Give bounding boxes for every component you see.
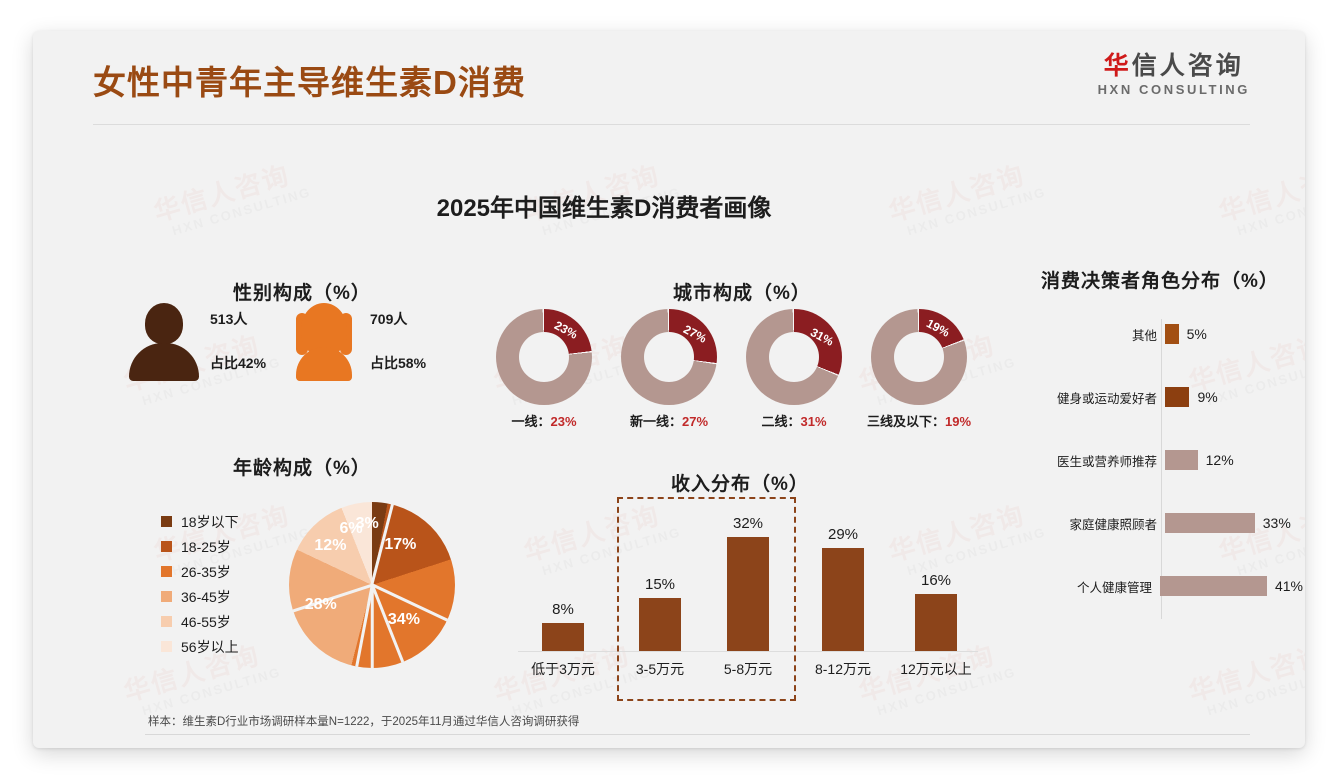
donut-caption: 新一线：27%: [613, 411, 725, 430]
logo-english-text: HXN CONSULTING: [1098, 82, 1250, 97]
footer-divider: [145, 734, 1250, 735]
income-category-label: 12万元以上: [886, 659, 986, 679]
slide-header: 女性中青年主导维生素D消费 华信人咨询 HXN CONSULTING: [33, 31, 1305, 124]
donut-ring: 19%: [871, 309, 967, 405]
age-legend-item: 26-35岁: [161, 559, 239, 584]
donut-caption-value: 23%: [550, 414, 576, 429]
income-category-label: 8-12万元: [793, 659, 893, 679]
female-count: 709人: [370, 309, 426, 329]
income-highlight-box: [617, 497, 796, 701]
income-bar-column: 16%: [891, 572, 981, 651]
role-value: 9%: [1197, 389, 1217, 405]
legend-swatch: [161, 591, 172, 602]
legend-label: 46-55岁: [181, 612, 231, 632]
role-bar-row: 医生或营养师推荐12%: [1033, 445, 1303, 475]
role-bar-row: 其他5%: [1033, 319, 1303, 349]
role-bar-row: 家庭健康照顾者33%: [1033, 508, 1303, 538]
pie-value-label: 17%: [384, 536, 416, 554]
watermark: 华信人咨询HXN CONSULTING: [1184, 630, 1305, 721]
donut-ring: 23%: [496, 309, 592, 405]
legend-swatch: [161, 566, 172, 577]
role-value: 12%: [1206, 452, 1234, 468]
role-bar: [1165, 513, 1255, 533]
legend-swatch: [161, 541, 172, 552]
role-label: 家庭健康照顾者: [1033, 514, 1163, 533]
male-count: 513人: [210, 309, 266, 329]
role-value: 33%: [1263, 515, 1291, 531]
role-bar-row: 健身或运动爱好者9%: [1033, 382, 1303, 412]
page-title: 女性中青年主导维生素D消费: [93, 56, 526, 104]
role-label: 医生或营养师推荐: [1033, 451, 1163, 470]
income-bar: [542, 623, 584, 651]
legend-label: 56岁以上: [181, 637, 239, 657]
income-bar-column: 8%: [518, 601, 608, 651]
age-legend-item: 36-45岁: [161, 584, 239, 609]
donut-hole: [894, 332, 944, 382]
male-person-icon: [128, 303, 200, 381]
age-legend-item: 18-25岁: [161, 534, 239, 559]
donut-hole: [644, 332, 694, 382]
legend-swatch: [161, 641, 172, 652]
legend-label: 26-35岁: [181, 562, 231, 582]
legend-label: 18-25岁: [181, 537, 231, 557]
city-donut-item: 23%一线：23%: [488, 309, 600, 430]
female-stats: 709人 占比58%: [370, 309, 426, 373]
gender-item-female: 709人 占比58%: [288, 303, 360, 381]
donut-caption-label: 一线：: [511, 414, 550, 429]
income-section-title: 收入分布（%）: [671, 469, 809, 496]
donut-caption: 二线：31%: [738, 411, 850, 430]
sample-note: 样本：维生素D行业市场调研样本量N=1222，于2025年11月通过华信人咨询调…: [148, 713, 579, 729]
role-label: 健身或运动爱好者: [1033, 388, 1163, 407]
donut-caption: 三线及以下：19%: [863, 411, 975, 430]
donut-caption-value: 27%: [682, 414, 708, 429]
city-donut-item: 31%二线：31%: [738, 309, 850, 430]
gender-section-title: 性别构成（%）: [233, 278, 371, 305]
age-legend-item: 56岁以上: [161, 634, 239, 659]
role-bar: [1165, 387, 1189, 407]
role-value: 5%: [1187, 326, 1207, 342]
donut-caption-label: 新一线：: [630, 414, 682, 429]
age-section-title: 年龄构成（%）: [233, 453, 371, 480]
donut-hole: [519, 332, 569, 382]
donut-caption-value: 19%: [945, 414, 971, 429]
pie-value-label: 28%: [305, 596, 337, 614]
gender-item-male: 513人 占比42%: [128, 303, 200, 381]
logo-chinese-text: 华信人咨询: [1098, 53, 1250, 79]
role-bar: [1165, 450, 1198, 470]
role-section-title: 消费决策者角色分布（%）: [1041, 266, 1279, 293]
donut-ring: 27%: [621, 309, 717, 405]
role-label: 其他: [1033, 325, 1163, 344]
role-bar: [1165, 324, 1179, 344]
chart-subtitle: 2025年中国维生素D消费者画像: [33, 188, 1305, 223]
legend-swatch: [161, 616, 172, 627]
header-divider: [93, 124, 1250, 125]
pie-value-label: 12%: [314, 537, 346, 555]
legend-label: 36-45岁: [181, 587, 231, 607]
income-bar-value: 8%: [518, 601, 608, 618]
role-label: 个人健康管理: [1033, 577, 1158, 596]
donut-caption-value: 31%: [800, 414, 826, 429]
age-pie-chart: 3%17%34%28%12%6%: [289, 502, 455, 668]
role-bar-row: 个人健康管理41%: [1033, 571, 1303, 601]
city-section-title: 城市构成（%）: [673, 278, 811, 305]
age-legend: 18岁以下18-25岁26-35岁36-45岁46-55岁56岁以上: [161, 509, 239, 659]
logo-chinese-rest: 信人咨询: [1132, 52, 1244, 80]
donut-caption-label: 二线：: [761, 414, 800, 429]
copyright-text: ©2026.1 HXR华信人咨询: [93, 747, 227, 748]
pie-slice-divider: [371, 585, 374, 668]
donut-ring: 31%: [746, 309, 842, 405]
legend-swatch: [161, 516, 172, 527]
female-person-icon: [288, 303, 360, 381]
city-donut-item: 19%三线及以下：19%: [863, 309, 975, 430]
city-donut-item: 27%新一线：27%: [613, 309, 725, 430]
role-bar-chart: 其他5%健身或运动爱好者9%医生或营养师推荐12%家庭健康照顾者33%个人健康管…: [1033, 319, 1303, 619]
legend-label: 18岁以下: [181, 512, 239, 532]
age-legend-item: 46-55岁: [161, 609, 239, 634]
income-bar-value: 29%: [798, 526, 888, 543]
pie-value-label: 6%: [340, 520, 363, 538]
income-bar-chart: 8%低于3万元15%3-5万元32%5-8万元29%8-12万元16%12万元以…: [513, 501, 983, 701]
role-bar: [1160, 576, 1267, 596]
income-bar: [822, 548, 864, 651]
company-logo: 华信人咨询 HXN CONSULTING: [1098, 53, 1250, 97]
pie-value-label: 34%: [388, 611, 420, 629]
income-bar-column: 29%: [798, 526, 888, 651]
income-bar-value: 16%: [891, 572, 981, 589]
income-bar: [915, 594, 957, 651]
role-value: 41%: [1275, 578, 1303, 594]
infographic-slide: 华信人咨询HXN CONSULTING华信人咨询HXN CONSULTING华信…: [33, 31, 1305, 748]
male-share: 占比42%: [210, 353, 266, 373]
age-legend-item: 18岁以下: [161, 509, 239, 534]
male-stats: 513人 占比42%: [210, 309, 266, 373]
female-share: 占比58%: [370, 353, 426, 373]
chart-subtitle-text: 2025年中国维生素D消费者画像: [437, 188, 772, 223]
income-category-label: 低于3万元: [513, 659, 613, 679]
donut-caption-label: 三线及以下：: [867, 414, 945, 429]
donut-caption: 一线：23%: [488, 411, 600, 430]
logo-hua-character: 华: [1104, 52, 1132, 80]
